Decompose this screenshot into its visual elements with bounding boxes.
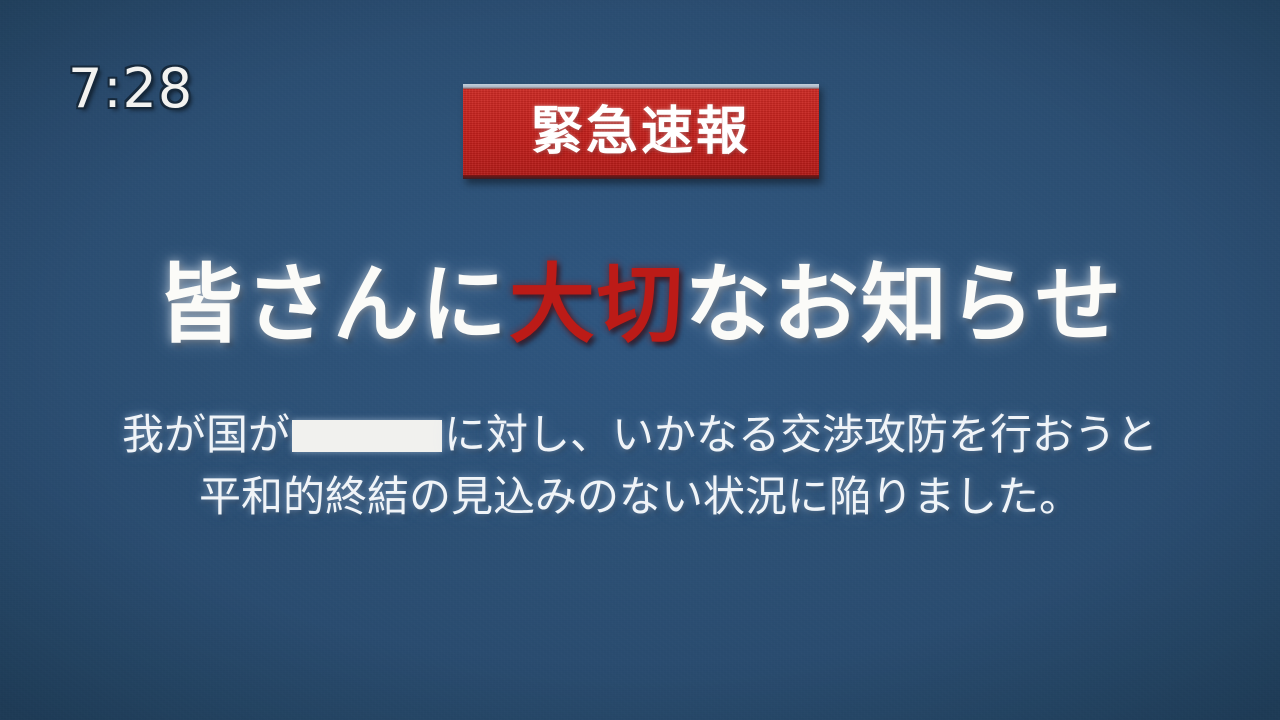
headline-segment-3: なお知らせ — [685, 254, 1123, 355]
subtitle-line-1: 我が国がに対し、いかなる交渉攻防を行おうと — [0, 404, 1280, 466]
headline: 皆さんに大切なお知らせ — [0, 258, 1280, 353]
banner-bottom-shadow — [463, 175, 819, 179]
subtitle-line-2: 平和的終結の見込みのない状況に陥りました。 — [0, 466, 1280, 528]
on-screen-clock: 7:28 — [68, 62, 193, 116]
subtitle-line1-before-redaction: 我が国が — [122, 410, 290, 459]
headline-segment-emphasis: 大切 — [509, 254, 685, 355]
redaction-block — [292, 420, 442, 452]
subtitle-block: 我が国がに対し、いかなる交渉攻防を行おうと 平和的終結の見込みのない状況に陥りま… — [0, 404, 1280, 528]
broadcast-screen: 7:28 緊急速報 皆さんに大切なお知らせ 我が国がに対し、いかなる交渉攻防を行… — [0, 0, 1280, 720]
headline-segment-1: 皆さんに — [157, 254, 509, 355]
banner-label: 緊急速報 — [531, 106, 751, 158]
emergency-bulletin-banner: 緊急速報 — [463, 84, 819, 179]
subtitle-line1-after-redaction: に対し、いかなる交渉攻防を行おうと — [444, 410, 1158, 459]
banner-body: 緊急速報 — [463, 89, 819, 175]
